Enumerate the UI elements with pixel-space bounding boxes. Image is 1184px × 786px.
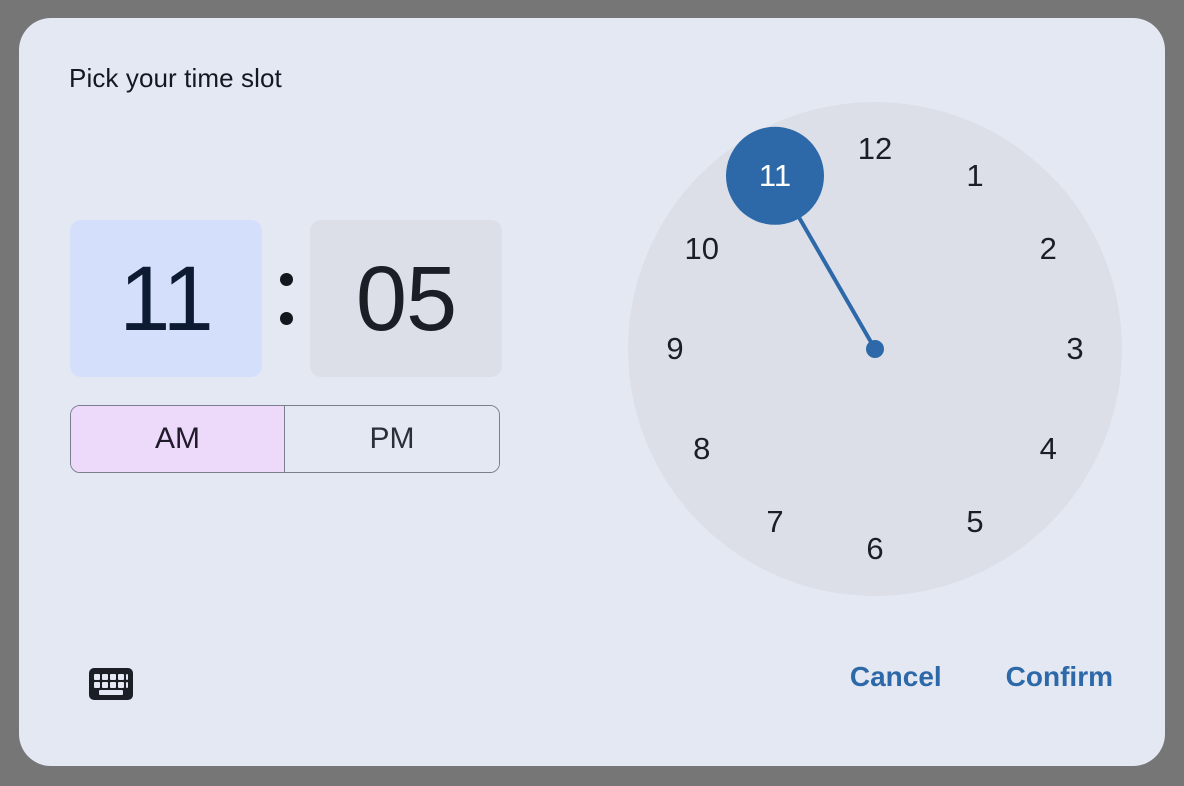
clock-center-dot — [866, 340, 884, 358]
clock-dial[interactable]: 121234567891011 — [628, 102, 1122, 596]
separator-dot-bottom — [280, 312, 293, 325]
clock-number-12[interactable]: 12 — [844, 127, 906, 171]
clock-number-5[interactable]: 5 — [944, 500, 1006, 544]
time-entry-group: 11 05 AM PM — [70, 220, 502, 492]
keyboard-input-toggle[interactable] — [87, 665, 135, 703]
clock-number-2[interactable]: 2 — [1017, 227, 1079, 271]
confirm-button[interactable]: Confirm — [1006, 661, 1113, 693]
time-picker-dialog: Pick your time slot 11 05 AM PM 12123456… — [19, 18, 1165, 766]
hour-value: 11 — [119, 253, 213, 345]
separator-dot-top — [280, 273, 293, 286]
clock-number-3[interactable]: 3 — [1044, 327, 1106, 371]
time-separator — [262, 220, 310, 377]
clock-number-7[interactable]: 7 — [744, 500, 806, 544]
meridiem-option-am[interactable]: AM — [71, 406, 285, 472]
hour-field[interactable]: 11 — [70, 220, 262, 377]
cancel-button[interactable]: Cancel — [850, 661, 942, 693]
footer-actions: Cancel Confirm — [850, 661, 1113, 693]
clock-number-9[interactable]: 9 — [644, 327, 706, 371]
minute-field[interactable]: 05 — [310, 220, 502, 377]
clock-number-4[interactable]: 4 — [1017, 427, 1079, 471]
keyboard-icon — [88, 667, 134, 701]
meridiem-toggle: AM PM — [70, 405, 500, 473]
clock-number-1[interactable]: 1 — [944, 154, 1006, 198]
clock-number-8[interactable]: 8 — [671, 427, 733, 471]
clock-number-11[interactable]: 11 — [744, 154, 806, 198]
clock-number-6[interactable]: 6 — [844, 527, 906, 571]
meridiem-option-pm[interactable]: PM — [285, 406, 499, 472]
clock-number-10[interactable]: 10 — [671, 227, 733, 271]
page-title: Pick your time slot — [69, 63, 282, 94]
clock-hand-line — [800, 218, 876, 349]
minute-value: 05 — [356, 253, 456, 345]
